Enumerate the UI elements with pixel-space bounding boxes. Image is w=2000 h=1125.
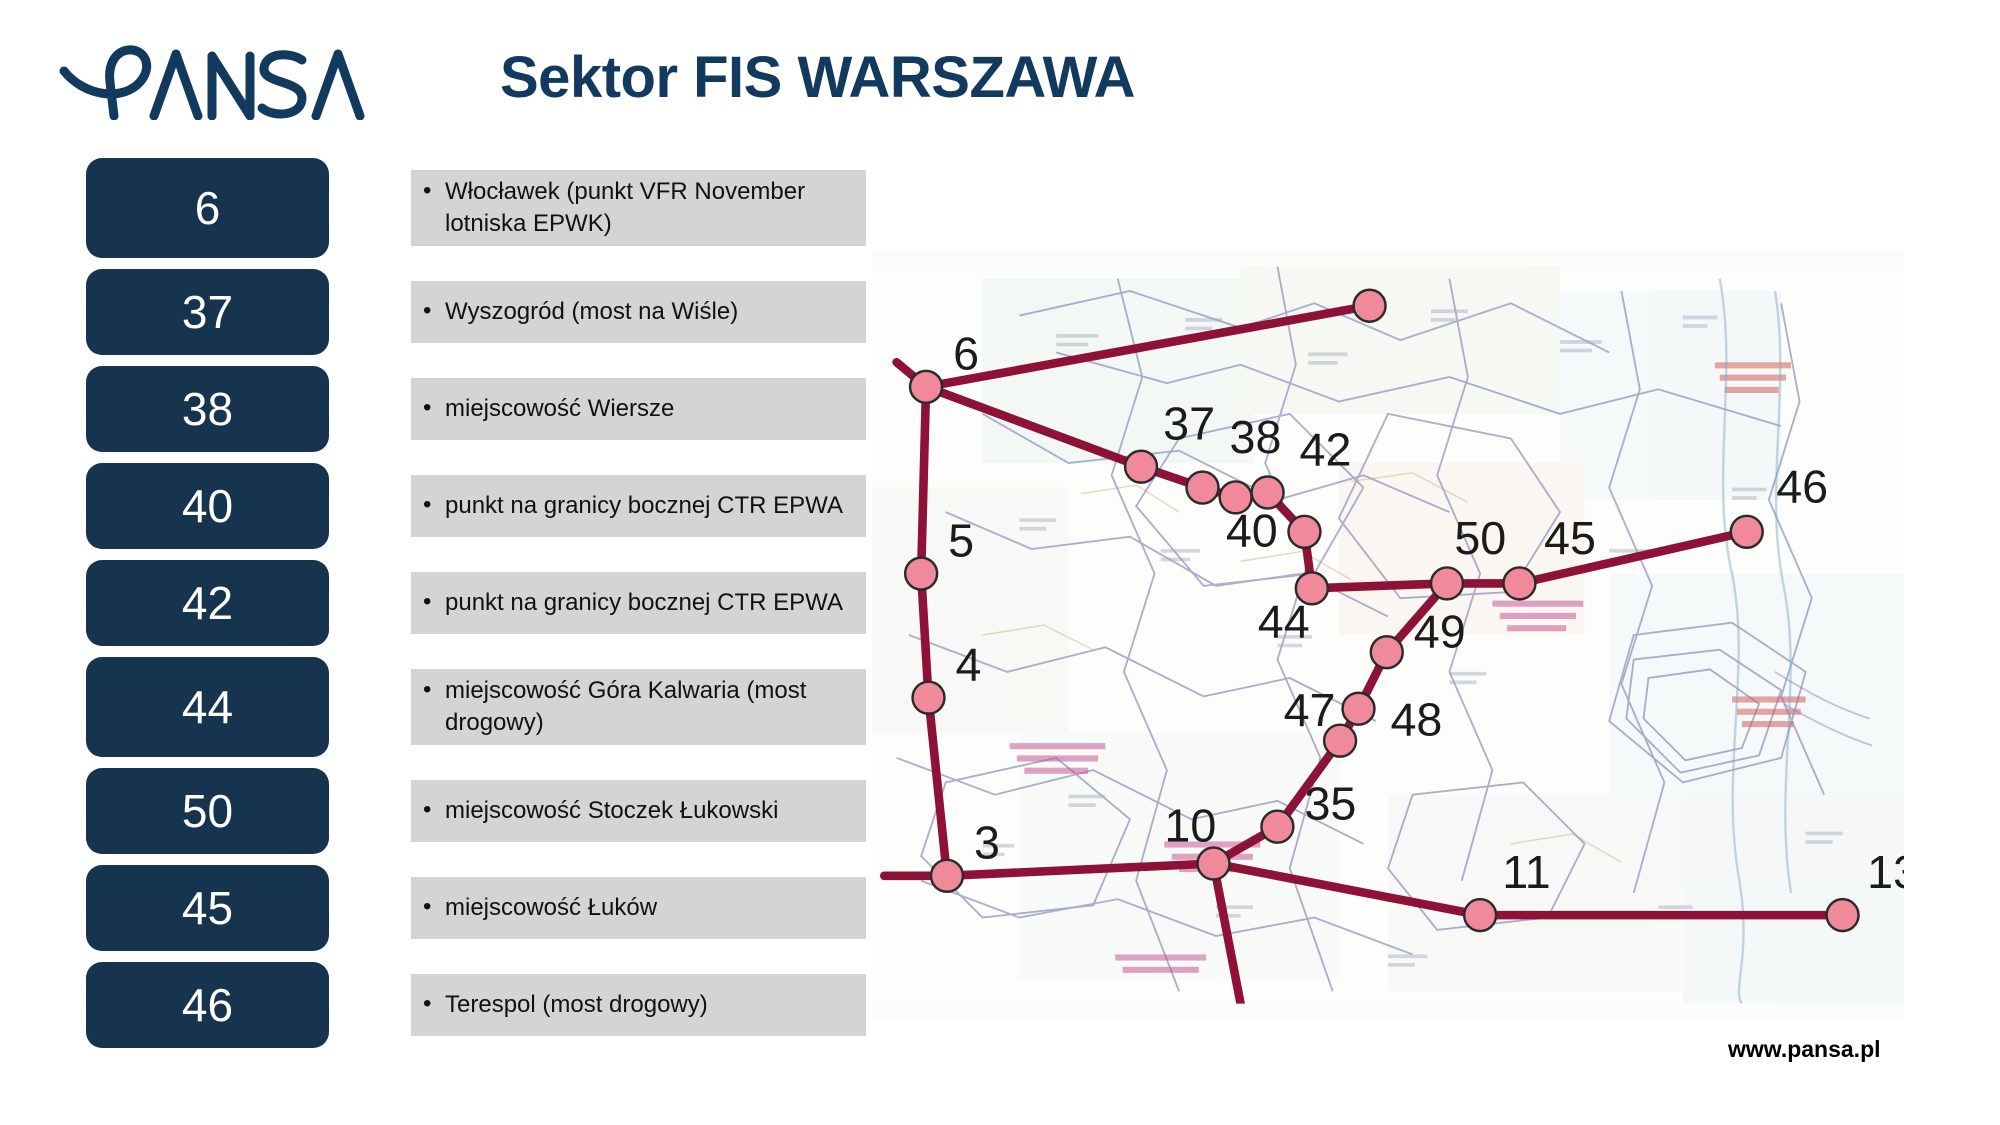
map-waypoint-dot[interactable]: [1371, 636, 1403, 668]
waypoint-description: miejscowość Łuków: [411, 877, 866, 939]
waypoint-description-text: miejscowość Łuków: [421, 892, 657, 924]
waypoint-description-text: punkt na granicy bocznej CTR EPWA: [421, 587, 843, 619]
page-header: Sektor FIS WARSZAWA: [0, 0, 2000, 140]
waypoint-description-text: Wyszogród (most na Wiśle): [421, 296, 738, 328]
waypoint-number-badge[interactable]: 42: [86, 560, 329, 646]
waypoint-description-text: punkt na granicy bocznej CTR EPWA: [421, 490, 843, 522]
waypoint-number-badge[interactable]: 44: [86, 657, 329, 757]
waypoint-number-badge[interactable]: 6: [86, 158, 329, 258]
waypoint-description: Wyszogród (most na Wiśle): [411, 281, 866, 343]
map-waypoint-dot[interactable]: [1198, 848, 1230, 880]
page-title: Sektor FIS WARSZAWA: [500, 44, 1135, 111]
map-waypoint-dot[interactable]: [1731, 516, 1763, 548]
waypoint-description: punkt na granicy bocznej CTR EPWA: [411, 475, 866, 537]
waypoint-description-text: Terespol (most drogowy): [421, 989, 708, 1021]
map-waypoint-label: 11: [1502, 846, 1550, 898]
map-waypoint-label: 35: [1304, 777, 1356, 829]
map-waypoint-dot[interactable]: [1187, 472, 1219, 504]
map-waypoint-label: 45: [1544, 512, 1596, 564]
map-waypoint-dot[interactable]: [1431, 567, 1463, 599]
waypoint-description: Terespol (most drogowy): [411, 974, 866, 1036]
map-waypoint-dot[interactable]: [910, 371, 942, 403]
legend-row: 50miejscowość Stoczek Łukowski: [86, 768, 796, 854]
map-waypoint-dot[interactable]: [1343, 693, 1375, 725]
waypoint-number-badge[interactable]: 50: [86, 768, 329, 854]
waypoint-description: miejscowość Góra Kalwaria (most drogowy): [411, 669, 866, 745]
legend-row: 42punkt na granicy bocznej CTR EPWA: [86, 560, 796, 646]
map-waypoint-dot[interactable]: [1464, 899, 1496, 931]
legend-row: 38miejscowość Wiersze: [86, 366, 796, 452]
map-waypoint-dot[interactable]: [931, 860, 963, 892]
footer-website-url[interactable]: www.pansa.pl: [1728, 1036, 1881, 1063]
map-waypoint-label: 50: [1454, 512, 1506, 564]
waypoint-description: Włocławek (punkt VFR November lotniska E…: [411, 170, 866, 246]
waypoint-description: punkt na granicy bocznej CTR EPWA: [411, 572, 866, 634]
map-waypoint-label: 49: [1414, 605, 1466, 657]
map-waypoint-label: 3: [974, 817, 1000, 869]
waypoint-number-badge[interactable]: 45: [86, 865, 329, 951]
legend-row: 37Wyszogród (most na Wiśle): [86, 269, 796, 355]
fis-sector-chart[interactable]: 6543373840424450454649484735101113: [872, 250, 1904, 1020]
map-waypoint-label: 42: [1300, 423, 1352, 475]
waypoint-description-text: miejscowość Stoczek Łukowski: [421, 795, 778, 827]
map-waypoint-label: 6: [953, 328, 979, 380]
pansa-logo: [58, 36, 438, 120]
waypoint-legend-list: 6Włocławek (punkt VFR November lotniska …: [86, 158, 796, 1059]
waypoint-description-text: miejscowość Góra Kalwaria (most drogowy): [421, 675, 856, 738]
map-waypoint-label: 47: [1284, 684, 1336, 736]
legend-row: 6Włocławek (punkt VFR November lotniska …: [86, 158, 796, 258]
map-waypoint-label: 10: [1164, 799, 1216, 851]
map-waypoint-label: 48: [1390, 694, 1442, 746]
waypoint-number-badge[interactable]: 37: [86, 269, 329, 355]
map-waypoint-dot[interactable]: [913, 682, 945, 714]
map-waypoint-dot[interactable]: [1125, 451, 1157, 483]
legend-row: 44miejscowość Góra Kalwaria (most drogow…: [86, 657, 796, 757]
map-waypoint-dot[interactable]: [1827, 899, 1859, 931]
legend-row: 40punkt na granicy bocznej CTR EPWA: [86, 463, 796, 549]
legend-row: 46Terespol (most drogowy): [86, 962, 796, 1048]
legend-row: 45miejscowość Łuków: [86, 865, 796, 951]
waypoint-description: miejscowość Stoczek Łukowski: [411, 780, 866, 842]
map-waypoint-dot[interactable]: [1354, 290, 1386, 322]
map-waypoint-label: 38: [1230, 411, 1282, 463]
map-waypoint-label: 37: [1163, 398, 1215, 450]
waypoint-number-badge[interactable]: 46: [86, 962, 329, 1048]
waypoint-description-text: Włocławek (punkt VFR November lotniska E…: [421, 176, 856, 239]
map-waypoint-dot[interactable]: [905, 558, 937, 590]
map-waypoint-label: 4: [956, 638, 982, 690]
waypoint-description-text: miejscowość Wiersze: [421, 393, 674, 425]
map-waypoint-label: 13: [1867, 846, 1904, 898]
map-waypoint-label: 5: [948, 514, 974, 566]
map-waypoint-label: 40: [1226, 505, 1278, 557]
map-waypoint-label: 44: [1258, 595, 1310, 647]
waypoint-number-badge[interactable]: 40: [86, 463, 329, 549]
map-waypoint-dot[interactable]: [1288, 516, 1320, 548]
map-waypoint-dot[interactable]: [1261, 811, 1293, 843]
map-waypoint-label: 46: [1776, 460, 1828, 512]
map-waypoint-dot[interactable]: [1503, 567, 1535, 599]
waypoint-number-badge[interactable]: 38: [86, 366, 329, 452]
waypoint-description: miejscowość Wiersze: [411, 378, 866, 440]
